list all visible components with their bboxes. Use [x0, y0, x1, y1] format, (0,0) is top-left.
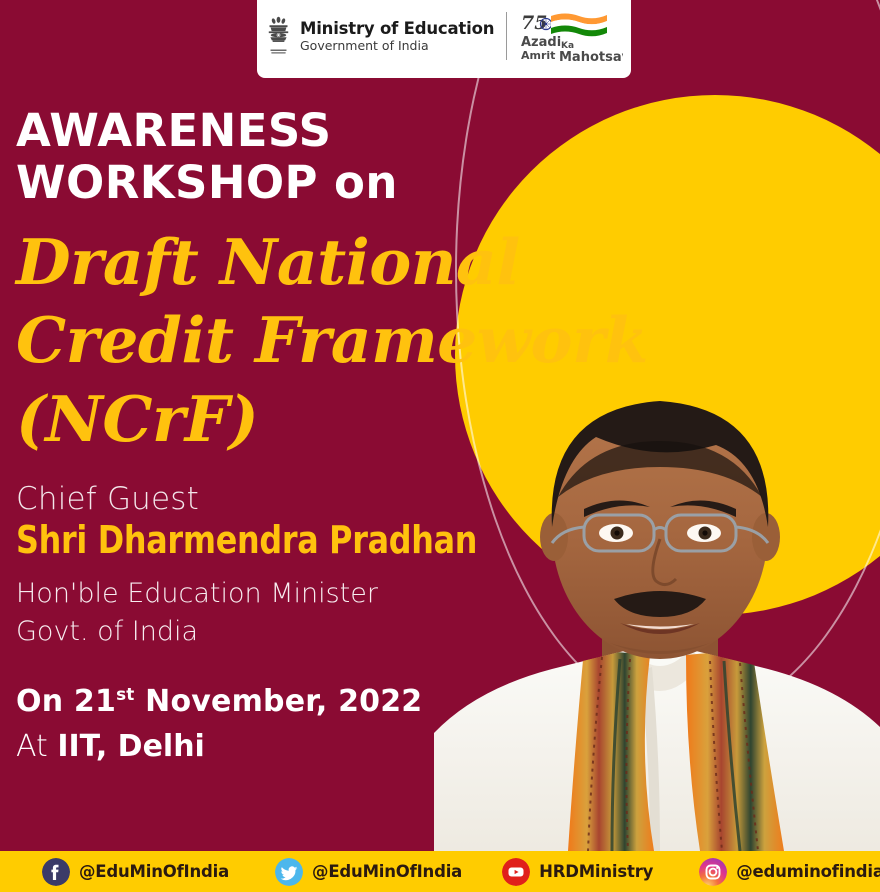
- date-prefix: On: [16, 684, 63, 719]
- chief-guest-name: Shri Dharmendra Pradhan: [16, 518, 611, 563]
- headline-line-2: WORKSHOP: [16, 156, 318, 209]
- date-ordinal-suffix: st: [116, 684, 134, 704]
- date-rest: November, 2022: [145, 684, 422, 719]
- event-date: On 21st November, 2022: [16, 685, 656, 718]
- social-footer-bar: @EduMinOfIndia @EduMinOfIndia HRDMinistr…: [0, 851, 880, 892]
- poster-content: AWARENESS WORKSHOP on Draft National Cre…: [16, 0, 656, 763]
- youtube-icon: [502, 858, 530, 886]
- social-link-twitter[interactable]: @EduMinOfIndia: [275, 858, 462, 886]
- social-link-facebook[interactable]: @EduMinOfIndia: [42, 858, 229, 886]
- venue-name: IIT, Delhi: [57, 729, 205, 764]
- instagram-icon: [699, 858, 727, 886]
- poster-root: Ministry of Education Government of Indi…: [0, 0, 880, 892]
- page-title: AWARENESS WORKSHOP on: [16, 0, 656, 209]
- event-title-line-1: Draft National: [16, 223, 656, 301]
- social-link-youtube[interactable]: HRDMinistry: [502, 858, 653, 886]
- date-day: 21: [74, 684, 116, 719]
- social-link-instagram[interactable]: @eduminofindia: [699, 858, 880, 886]
- event-venue: At IIT, Delhi: [16, 730, 656, 763]
- chief-guest-designation: Hon'ble Education Minister Govt. of Indi…: [16, 575, 656, 652]
- designation-line-1: Hon'ble Education Minister: [16, 575, 656, 613]
- facebook-handle: @EduMinOfIndia: [79, 862, 229, 881]
- instagram-handle: @eduminofindia: [736, 862, 880, 881]
- youtube-handle: HRDMinistry: [539, 862, 653, 881]
- venue-prefix: At: [16, 729, 48, 764]
- headline-line-1: AWARENESS: [16, 104, 331, 157]
- facebook-icon: [42, 858, 70, 886]
- twitter-icon: [275, 858, 303, 886]
- twitter-handle: @EduMinOfIndia: [312, 862, 462, 881]
- event-title-line-3: (NCrF): [16, 380, 656, 458]
- event-title: Draft National Credit Framework (NCrF): [16, 223, 656, 457]
- designation-line-2: Govt. of India: [16, 613, 656, 651]
- headline-on: on: [334, 156, 398, 209]
- event-title-line-2: Credit Framework: [16, 301, 656, 379]
- chief-guest-label: Chief Guest: [16, 482, 656, 516]
